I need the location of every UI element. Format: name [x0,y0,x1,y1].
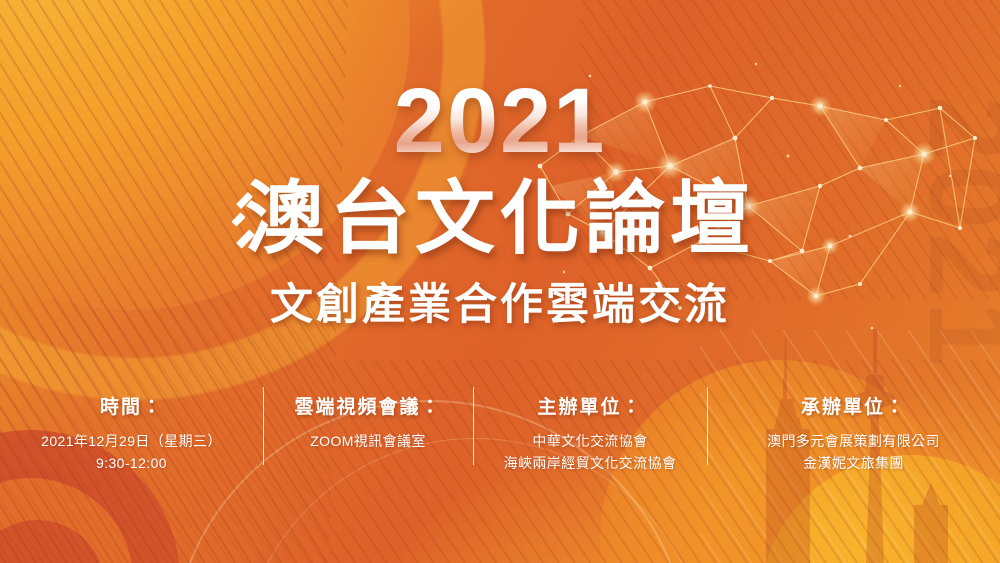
year-heading-wrap: 2021 [0,78,1000,165]
info-heading: 主辦單位： [483,392,697,419]
info-column-organizer: 主辦單位： 中華文化交流協會 海峽兩岸經貿文化交流協會 [473,392,707,474]
info-line: ZOOM視訊會議室 [273,431,463,453]
info-heading: 時間： [10,392,253,419]
info-heading: 承辦單位： [717,392,990,419]
info-line: 金漢妮文旅集團 [717,453,990,475]
event-poster: 2021 [0,0,1000,563]
poster-subtitle: 文創產業合作雲端交流 [0,283,1000,328]
info-line: 9:30-12:00 [10,453,253,475]
info-column-executor: 承辦單位： 澳門多元會展策劃有限公司 金漢妮文旅集團 [707,392,1000,474]
info-line: 澳門多元會展策劃有限公司 [717,431,990,453]
info-row: 時間： 2021年12月29日（星期三） 9:30-12:00 雲端視頻會議： … [0,392,1000,474]
info-heading: 雲端視頻會議： [273,392,463,419]
poster-content: 2021 澳台文化論壇 文創產業合作雲端交流 時間： 2021年12月29日（星… [0,0,1000,563]
poster-title: 澳台文化論壇 [0,178,1000,260]
info-line: 海峽兩岸經貿文化交流協會 [483,453,697,475]
info-column-meeting: 雲端視頻會議： ZOOM視訊會議室 [263,392,473,453]
info-line: 中華文化交流協會 [483,431,697,453]
info-line: 2021年12月29日（星期三） [10,431,253,453]
year-heading: 2021 [394,78,607,165]
info-column-time: 時間： 2021年12月29日（星期三） 9:30-12:00 [0,392,263,474]
